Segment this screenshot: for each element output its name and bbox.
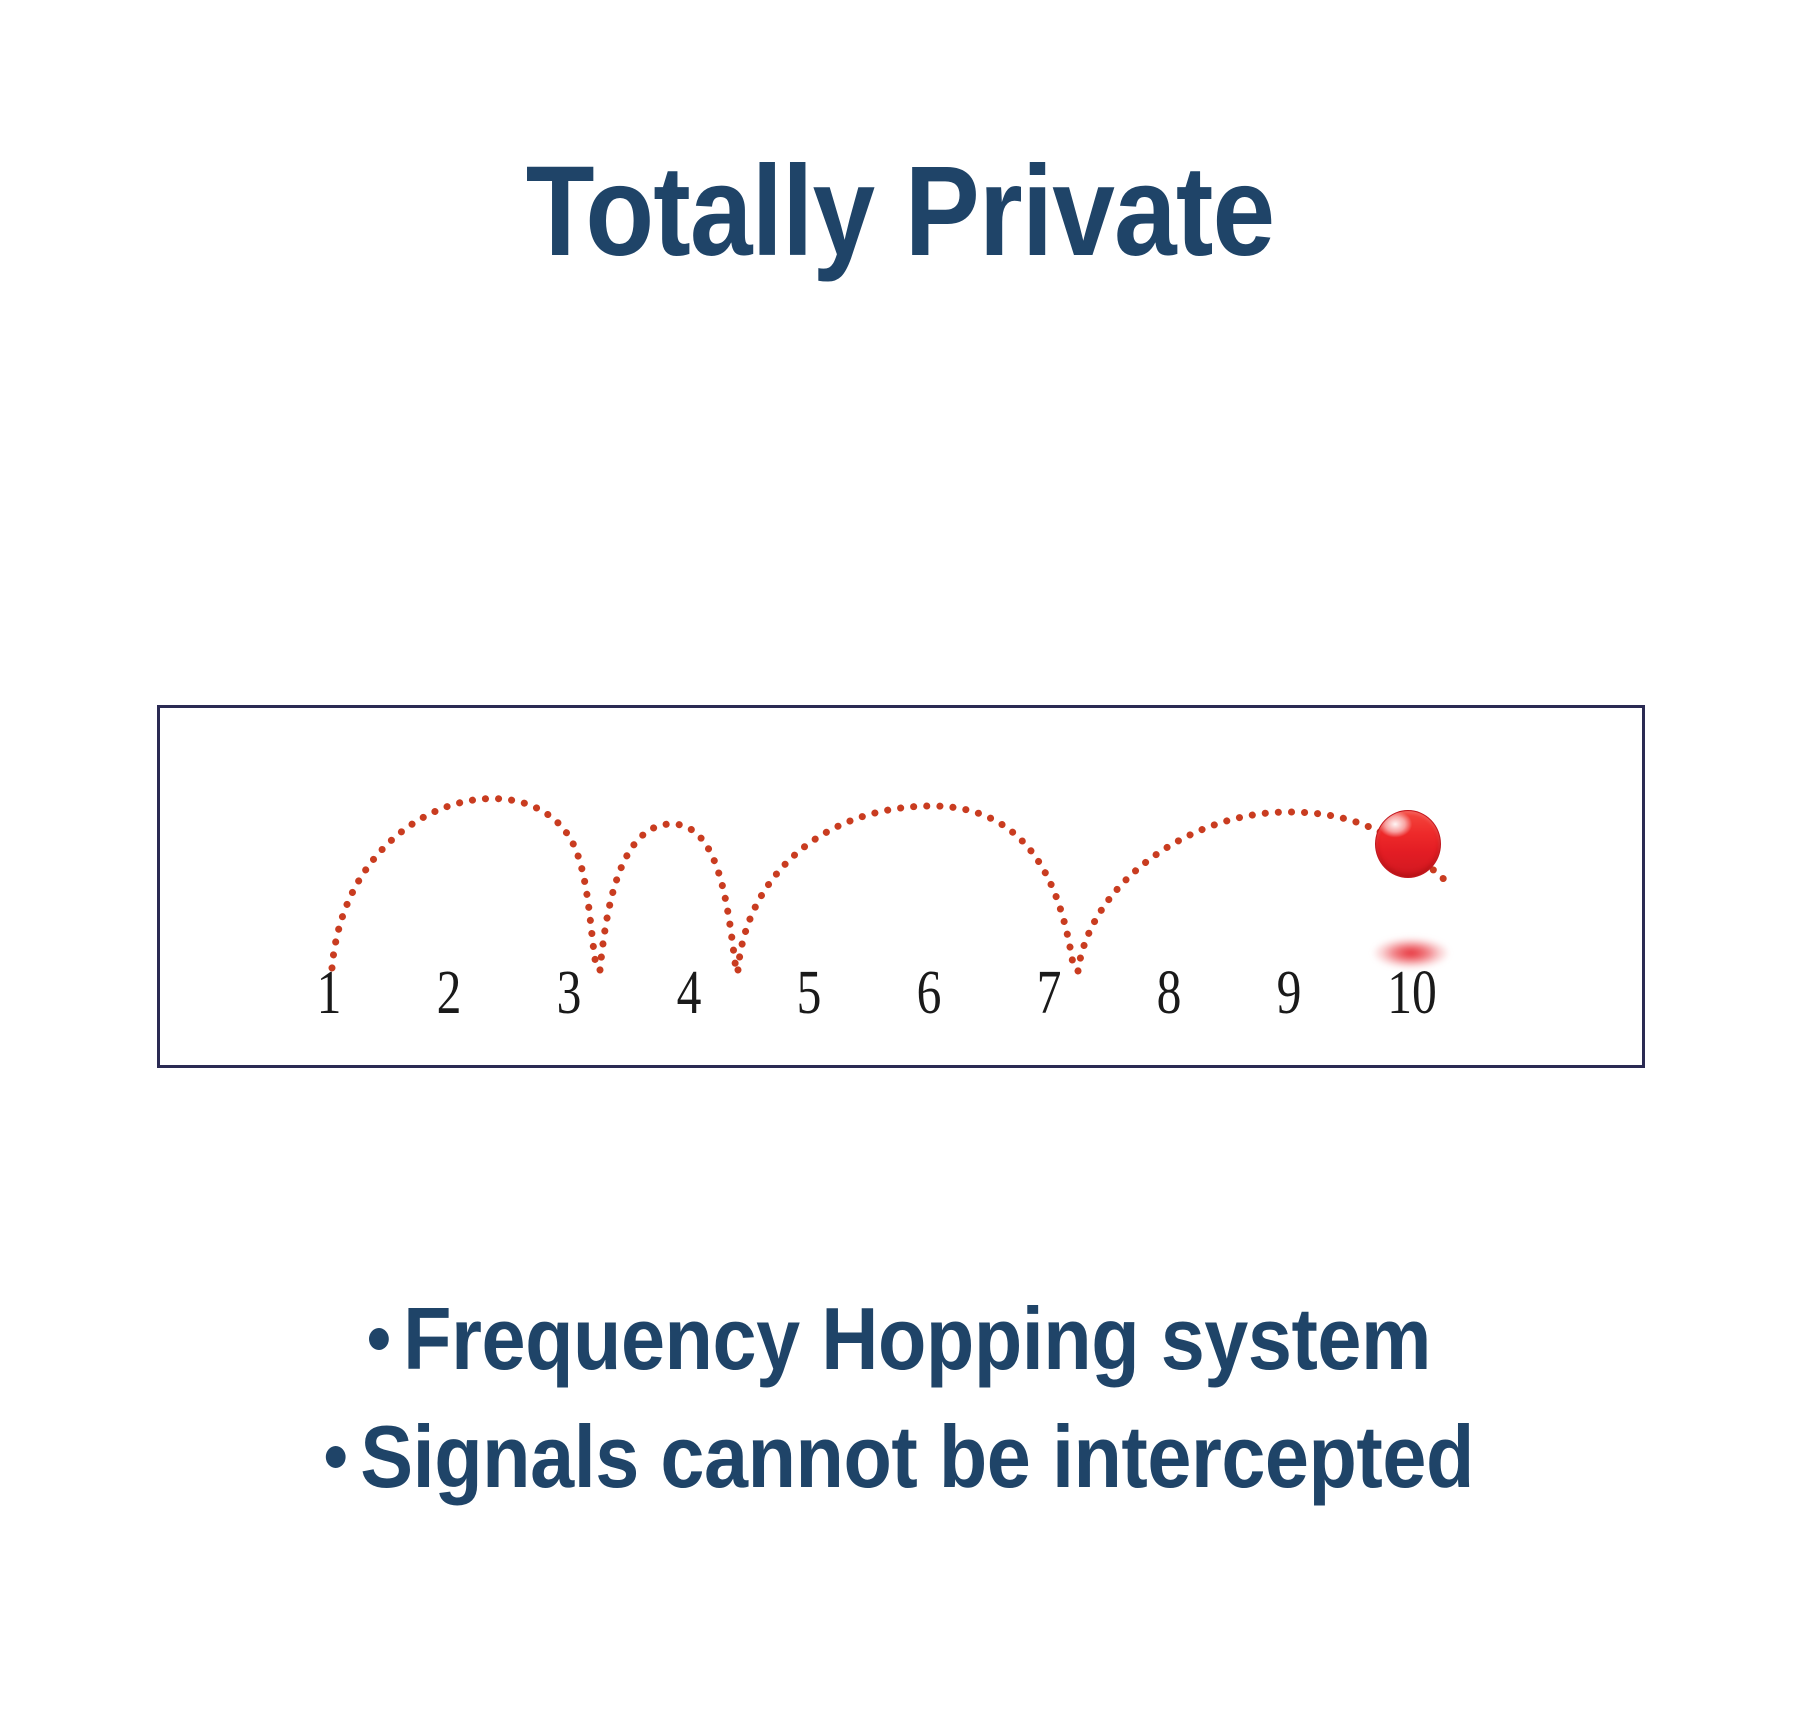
tick-label-1: 1 bbox=[281, 960, 377, 1026]
bullet-dot-icon bbox=[326, 1446, 346, 1468]
tick-label-3: 3 bbox=[521, 960, 617, 1026]
axis-tick-labels: 1 2 3 4 5 6 7 8 9 10 bbox=[157, 960, 1645, 1030]
tick-label-4: 4 bbox=[641, 960, 737, 1026]
bullet-list: Frequency Hopping system Signals cannot … bbox=[0, 1280, 1800, 1516]
hop-arc-1-to-3 bbox=[332, 799, 597, 970]
tick-label-10: 10 bbox=[1364, 960, 1460, 1026]
bullet-dot-icon bbox=[369, 1328, 389, 1350]
tick-label-9: 9 bbox=[1241, 960, 1337, 1026]
bullet-item-2: Signals cannot be intercepted bbox=[90, 1398, 1710, 1516]
bullet-item-1-label: Frequency Hopping system bbox=[403, 1289, 1431, 1388]
red-signal-ball bbox=[1375, 810, 1441, 878]
hop-arc-4-to-7 bbox=[738, 806, 1074, 971]
tick-label-2: 2 bbox=[401, 960, 497, 1026]
hop-arc-3-to-4 bbox=[600, 824, 736, 970]
tick-label-5: 5 bbox=[761, 960, 857, 1026]
tick-label-7: 7 bbox=[1001, 960, 1097, 1026]
tick-label-6: 6 bbox=[881, 960, 977, 1026]
page-title: Totally Private bbox=[108, 148, 1692, 276]
tick-label-8: 8 bbox=[1121, 960, 1217, 1026]
bullet-item-2-label: Signals cannot be intercepted bbox=[360, 1407, 1474, 1506]
bullet-item-1: Frequency Hopping system bbox=[90, 1280, 1710, 1398]
